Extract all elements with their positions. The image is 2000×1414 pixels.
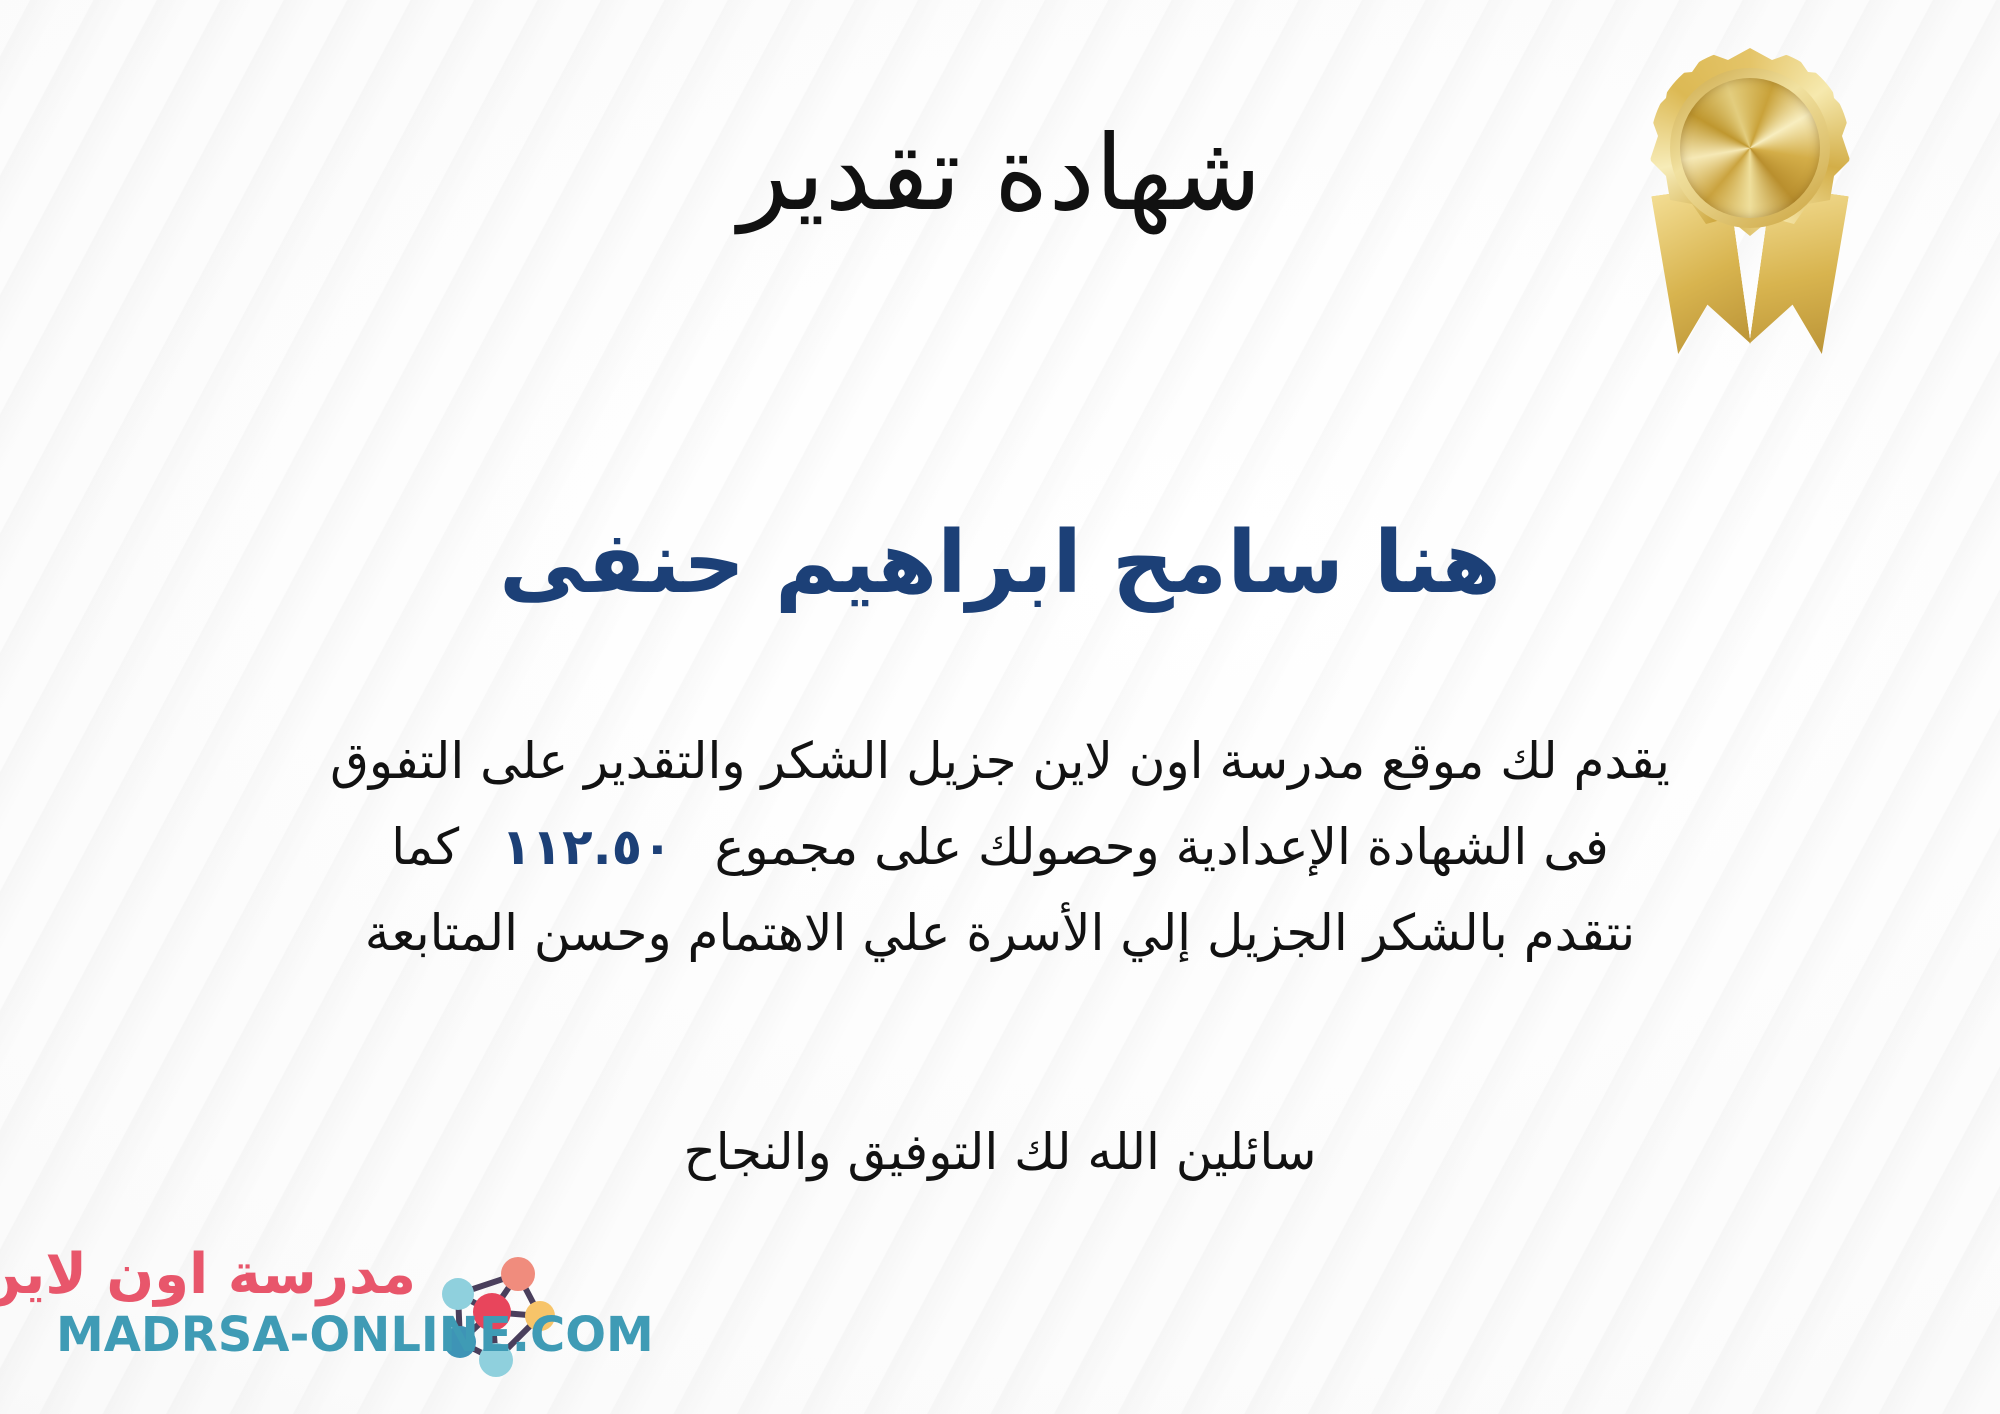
body-line-2: فى الشهادة الإعدادية وحصولك على مجموع ١١…: [60, 804, 1940, 890]
student-name: هنا سامح ابراهيم حنفى: [0, 512, 2000, 615]
certificate-title: شهادة تقدير: [0, 112, 2000, 235]
closing-wish: سائلين الله لك التوفيق والنجاح: [0, 1112, 2000, 1192]
brand-name-arabic: مدرسة اون لاين: [56, 1246, 416, 1305]
brand-logo-text: مدرسة اون لاين MADRSA-ONLINE.COM: [56, 1246, 416, 1363]
certificate-canvas: شهادة تقدير هنا سامح ابراهيم حنفى يقدم ل…: [0, 0, 2000, 1414]
brand-website: MADRSA-ONLINE.COM: [56, 1307, 416, 1363]
grade-value: ١١٢.٥٠: [475, 818, 699, 876]
body-line-2-before: فى الشهادة الإعدادية وحصولك على مجموع: [715, 818, 1609, 876]
body-line-1: يقدم لك موقع مدرسة اون لاين جزيل الشكر و…: [60, 718, 1940, 804]
body-line-2-after: كما: [391, 818, 459, 876]
brand-logo[interactable]: مدرسة اون لاين MADRSA-ONLINE.COM: [22, 1240, 562, 1390]
body-line-3: نتقدم بالشكر الجزيل إلي الأسرة علي الاهت…: [60, 890, 1940, 976]
certificate-content: شهادة تقدير هنا سامح ابراهيم حنفى يقدم ل…: [0, 0, 2000, 1414]
certificate-body: يقدم لك موقع مدرسة اون لاين جزيل الشكر و…: [60, 718, 1940, 976]
